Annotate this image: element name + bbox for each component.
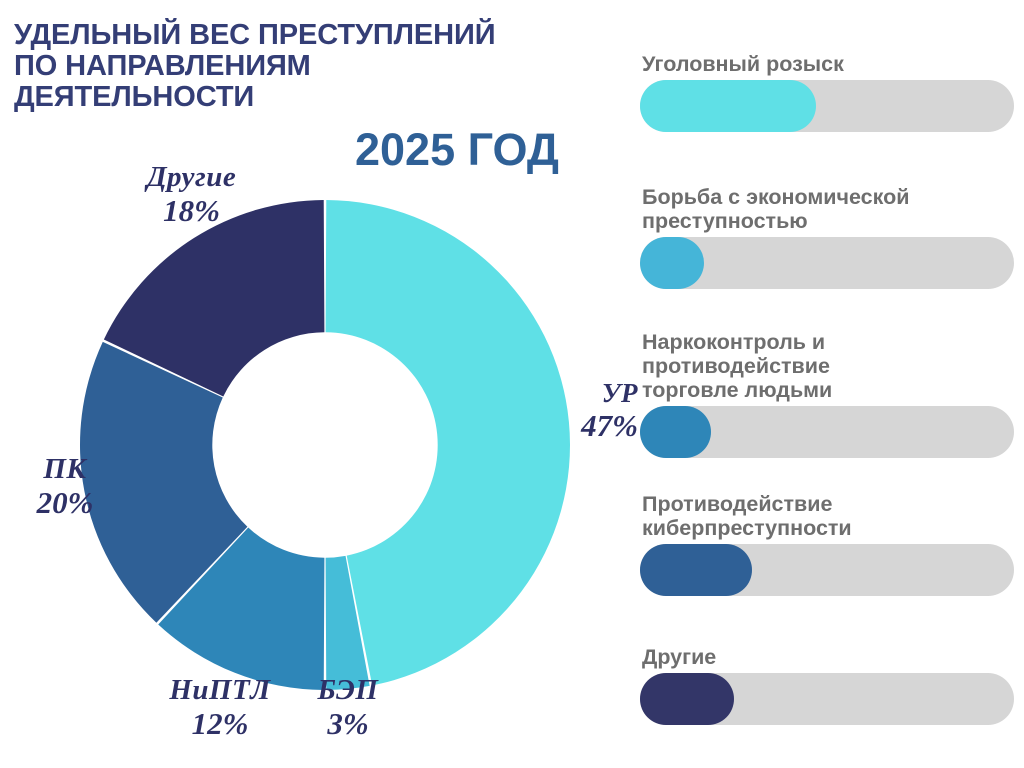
slice-label-pk-name: ПК: [0, 455, 130, 484]
slice-label-niptl-name: НиПТЛ: [150, 676, 290, 705]
slice-label-other-name: Другие: [104, 163, 279, 192]
donut-slices: [80, 200, 570, 690]
progress-fill-ekonomicheskaya-prestupnost: [640, 237, 704, 289]
donut-chart: [60, 180, 590, 710]
slice-label-bep-name: БЭП: [298, 676, 398, 705]
slice-label-other-value: 18%: [104, 195, 279, 226]
slice-label-ur: УР 47%: [538, 380, 638, 441]
progress-track-drugie[interactable]: [640, 673, 1014, 725]
slice-label-ur-name: УР: [538, 380, 638, 407]
progress-row-ugolovny-rozysk: Уголовный розыск: [640, 52, 1016, 132]
progress-row-ekonomicheskaya-prestupnost: Борьба с экономической преступностью: [640, 185, 1016, 289]
slice-label-bep-value: 3%: [298, 708, 398, 739]
progress-track-ekonomicheskaya-prestupnost[interactable]: [640, 237, 1014, 289]
progress-fill-kiberprestupnost: [640, 544, 752, 596]
slice-label-ur-value: 47%: [538, 410, 638, 441]
progress-track-kiberprestupnost[interactable]: [640, 544, 1014, 596]
progress-track-narkokontrol[interactable]: [640, 406, 1014, 458]
progress-bars-panel: Уголовный розыск Борьба с экономической …: [640, 0, 1016, 768]
progress-fill-narkokontrol: [640, 406, 711, 458]
slice-label-other: Другие 18%: [104, 163, 279, 226]
progress-fill-ugolovny-rozysk: [640, 80, 816, 132]
slice-label-pk: ПК 20%: [0, 455, 130, 518]
page-title: УДЕЛЬНЫЙ ВЕС ПРЕСТУПЛЕНИЙ ПО НАПРАВЛЕНИЯ…: [14, 20, 614, 113]
progress-row-narkokontrol: Наркоконтроль и противодействие торговле…: [640, 330, 1016, 458]
progress-row-kiberprestupnost: Противодействие киберпреступности: [640, 492, 1016, 596]
title-block: УДЕЛЬНЫЙ ВЕС ПРЕСТУПЛЕНИЙ ПО НАПРАВЛЕНИЯ…: [14, 20, 614, 113]
progress-label-narkokontrol: Наркоконтроль и противодействие торговле…: [642, 330, 1016, 402]
donut-chart-svg: [60, 180, 590, 710]
progress-label-drugie: Другие: [642, 645, 1016, 669]
slice-label-niptl-value: 12%: [150, 708, 290, 739]
progress-fill-drugie: [640, 673, 734, 725]
progress-label-ekonomicheskaya-prestupnost: Борьба с экономической преступностью: [642, 185, 1016, 233]
slice-label-niptl: НиПТЛ 12%: [150, 676, 290, 739]
progress-track-ugolovny-rozysk[interactable]: [640, 80, 1014, 132]
slice-label-bep: БЭП 3%: [298, 676, 398, 739]
progress-label-ugolovny-rozysk: Уголовный розыск: [642, 52, 1016, 76]
slice-label-pk-value: 20%: [0, 487, 130, 518]
donut-slice-УР[interactable]: [326, 200, 570, 685]
progress-label-kiberprestupnost: Противодействие киберпреступности: [642, 492, 1016, 540]
progress-row-drugie: Другие: [640, 645, 1016, 725]
year-subtitle: 2025 ГОД: [355, 127, 559, 172]
